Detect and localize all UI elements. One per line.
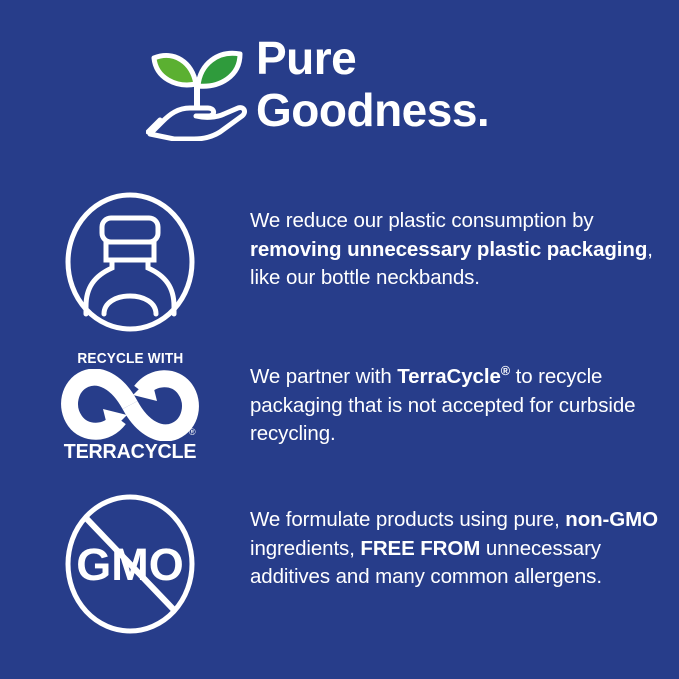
feature-text-plastic-reduction: We reduce our plastic consumption by rem… (250, 190, 665, 293)
registered-mark: ® (189, 427, 196, 437)
terracycle-bottom-label: TERRACYCLE (64, 440, 197, 464)
terracycle-badge: RECYCLE WITH ® TERRACYCLE (60, 345, 200, 464)
text-segment-bold: non-GMO (565, 508, 658, 531)
feature-row-non-gmo: GMO We formulate products using pure, no… (55, 492, 665, 637)
text-segment: We partner with (250, 365, 397, 388)
no-gmo-circle-icon: GMO (55, 492, 205, 637)
text-segment: We reduce our plastic consumption by (250, 209, 594, 232)
feature-row-terracycle: RECYCLE WITH ® TERRACYCLE (55, 345, 665, 464)
text-segment-bold: FREE FROM (360, 537, 480, 560)
text-segment: ingredients, (250, 537, 360, 560)
hand-holding-sprout-icon (146, 36, 248, 141)
bottle-neckband-circle-icon (55, 190, 205, 335)
pure-goodness-infographic: Pure Goodness. We reduce our plastic con… (0, 0, 679, 679)
text-segment: We formulate products using pure, (250, 508, 565, 531)
registered-mark: ® (501, 363, 510, 378)
header: Pure Goodness. (146, 32, 489, 141)
feature-text-non-gmo: We formulate products using pure, non-GM… (250, 492, 665, 592)
feature-row-plastic-reduction: We reduce our plastic consumption by rem… (55, 190, 665, 335)
brand-name: TerraCycle (397, 365, 500, 388)
terracycle-top-label: RECYCLE WITH (77, 351, 183, 367)
feature-text-terracycle: We partner with TerraCycle® to recycle p… (250, 345, 665, 449)
recycle-infinity-loop-icon: ® (61, 369, 199, 441)
gmo-label: GMO (76, 539, 184, 590)
page-title: Pure Goodness. (256, 32, 489, 136)
terracycle-logo: RECYCLE WITH ® TERRACYCLE (55, 345, 205, 464)
text-segment-bold: removing unnecessary plastic packaging (250, 238, 647, 261)
text-segment-bold: TerraCycle® (397, 365, 510, 388)
